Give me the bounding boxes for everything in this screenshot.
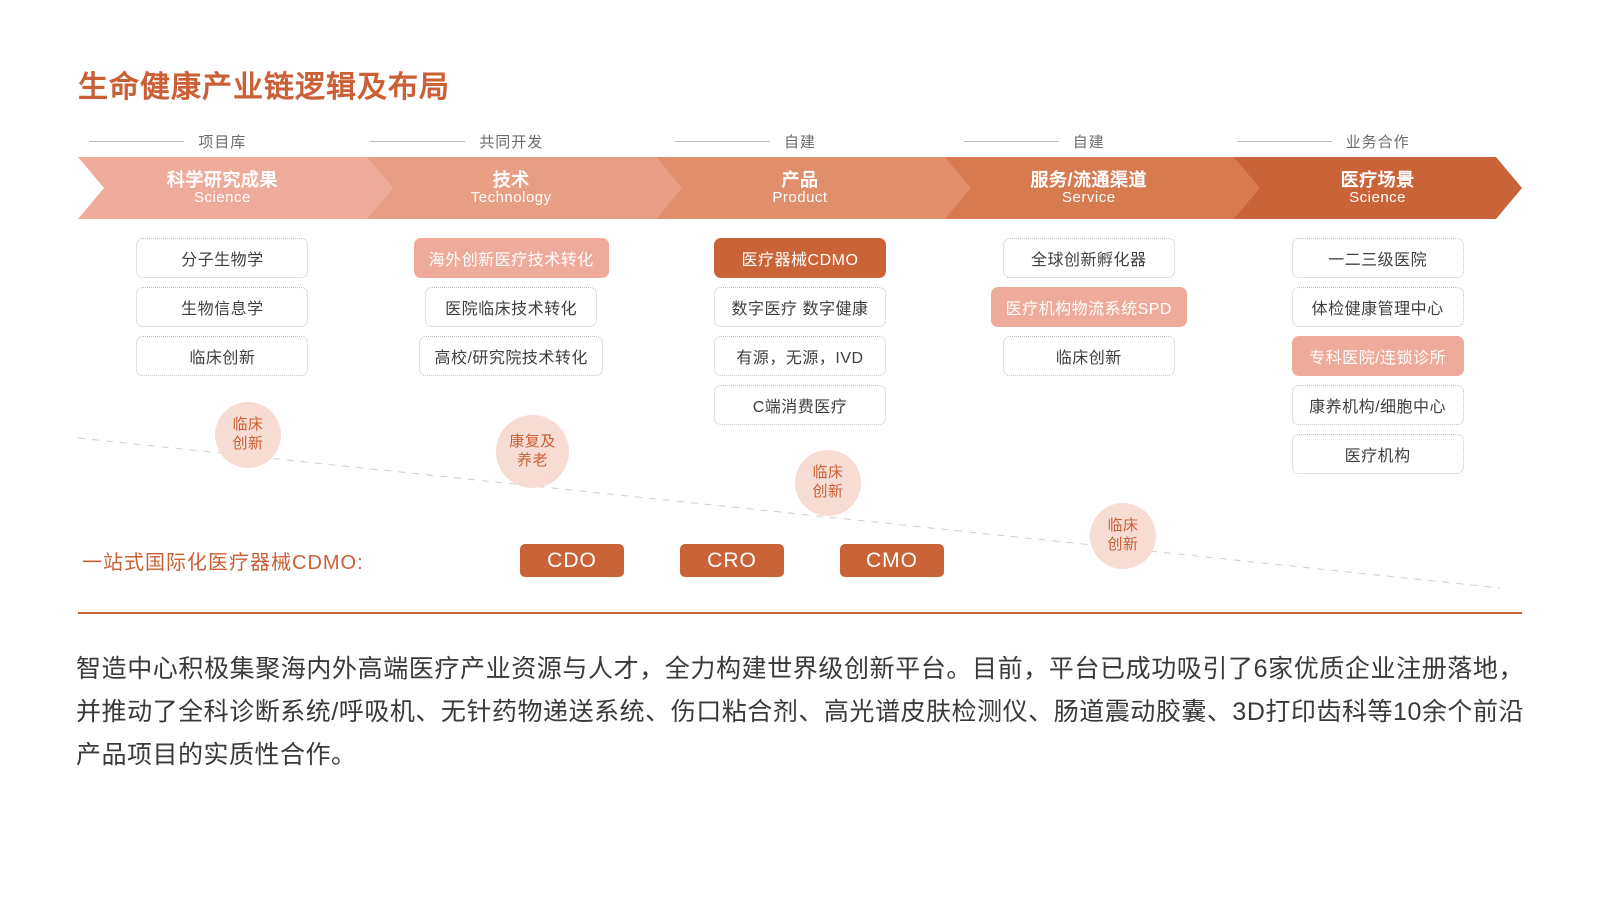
cdmo-label: 一站式国际化医疗器械CDMO:: [82, 546, 364, 575]
cdmo-chip-cdo[interactable]: CDO: [520, 544, 624, 577]
cdmo-chip-cro[interactable]: CRO: [680, 544, 784, 577]
cdmo-chip-cmo[interactable]: CMO: [840, 544, 944, 577]
footer-paragraph: 智造中心积极集聚海内外高端医疗产业资源与人才，全力构建世界级创新平台。目前，平台…: [76, 648, 1524, 777]
section-divider: [78, 612, 1522, 614]
